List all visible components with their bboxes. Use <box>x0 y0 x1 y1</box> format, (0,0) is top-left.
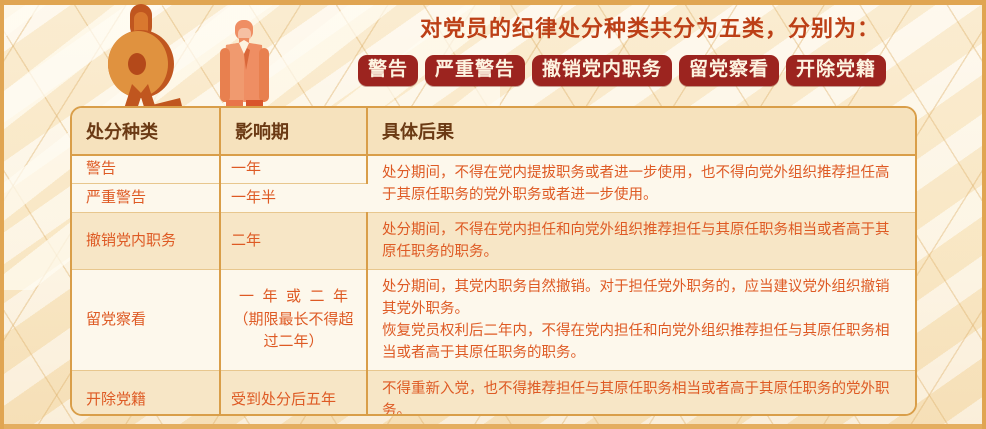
cell-kind: 撤销党内职务 <box>72 213 220 270</box>
cell-kind: 严重警告 <box>72 184 220 213</box>
cell-kind: 警告 <box>72 155 220 184</box>
cell-kind: 开除党籍 <box>72 371 220 416</box>
table-header-row: 处分种类 影响期 具体后果 <box>72 108 915 155</box>
page-title: 对党员的纪律处分种类共分为五类，分别为： <box>370 11 930 43</box>
column-header-period: 影响期 <box>220 108 367 155</box>
frame-border-right <box>982 0 986 429</box>
cell-period: 一年半 <box>220 184 367 213</box>
frame-border-left <box>0 0 4 429</box>
punishment-badge-row: 警告 严重警告 撤销党内职务 留党察看 开除党籍 <box>322 52 922 88</box>
punishment-table: 处分种类 影响期 具体后果 警告 一年 处分期间，不得在党内提拔职务或者进一步使… <box>70 106 917 416</box>
table-row: 警告 一年 处分期间，不得在党内提拔职务或者进一步使用，也不得向党外组织推荐担任… <box>72 155 915 184</box>
cell-period: 受到处分后五年 <box>220 371 367 416</box>
period-line-2: （期限最长不得超过二年） <box>231 309 356 354</box>
table-row: 开除党籍 受到处分后五年 不得重新入党，也不得推荐担任与其原任职务相当或者高于其… <box>72 371 915 416</box>
period-line-1: 一年或二年 <box>231 286 356 309</box>
cell-period: 二年 <box>220 213 367 270</box>
table-row: 留党察看 一年或二年 （期限最长不得超过二年） 处分期间，其党内职务自然撤销。对… <box>72 270 915 371</box>
badge-revoke-party-post[interactable]: 撤销党内职务 <box>532 55 672 86</box>
column-header-consequence: 具体后果 <box>367 108 915 155</box>
consequence-paragraph-1: 处分期间，其党内职务自然撤销。对于担任党外职务的，应当建议党外组织撤销其党外职务… <box>382 276 903 320</box>
cell-consequence: 不得重新入党，也不得推荐担任与其原任职务相当或者高于其原任职务的党外职务。 <box>367 371 915 416</box>
badge-serious-warning[interactable]: 严重警告 <box>425 55 525 86</box>
badge-expulsion[interactable]: 开除党籍 <box>786 55 886 86</box>
cell-kind: 留党察看 <box>72 270 220 371</box>
cell-consequence: 处分期间，不得在党内担任和向党外组织推荐担任与其原任职务相当或者高于其原任职务的… <box>367 213 915 270</box>
table-row: 撤销党内职务 二年 处分期间，不得在党内担任和向党外组织推荐担任与其原任职务相当… <box>72 213 915 270</box>
consequence-paragraph-2: 恢复党员权利后二年内，不得在党内担任和向党外组织推荐担任与其原任职务相当或者高于… <box>382 320 903 364</box>
cell-consequence: 处分期间，不得在党内提拔职务或者进一步使用，也不得向党外组织推荐担任高于其原任职… <box>367 155 915 213</box>
cell-consequence: 处分期间，其党内职务自然撤销。对于担任党外职务的，应当建议党外组织撤销其党外职务… <box>367 270 915 371</box>
cell-period: 一年或二年 （期限最长不得超过二年） <box>220 270 367 371</box>
frame-border-bottom <box>0 424 986 429</box>
column-header-kind: 处分种类 <box>72 108 220 155</box>
badge-warning[interactable]: 警告 <box>358 55 418 86</box>
cell-period: 一年 <box>220 155 367 184</box>
badge-probation[interactable]: 留党察看 <box>679 55 779 86</box>
infographic-canvas: 对党员的纪律处分种类共分为五类，分别为： 警告 严重警告 撤销党内职务 留党察看… <box>0 0 986 429</box>
